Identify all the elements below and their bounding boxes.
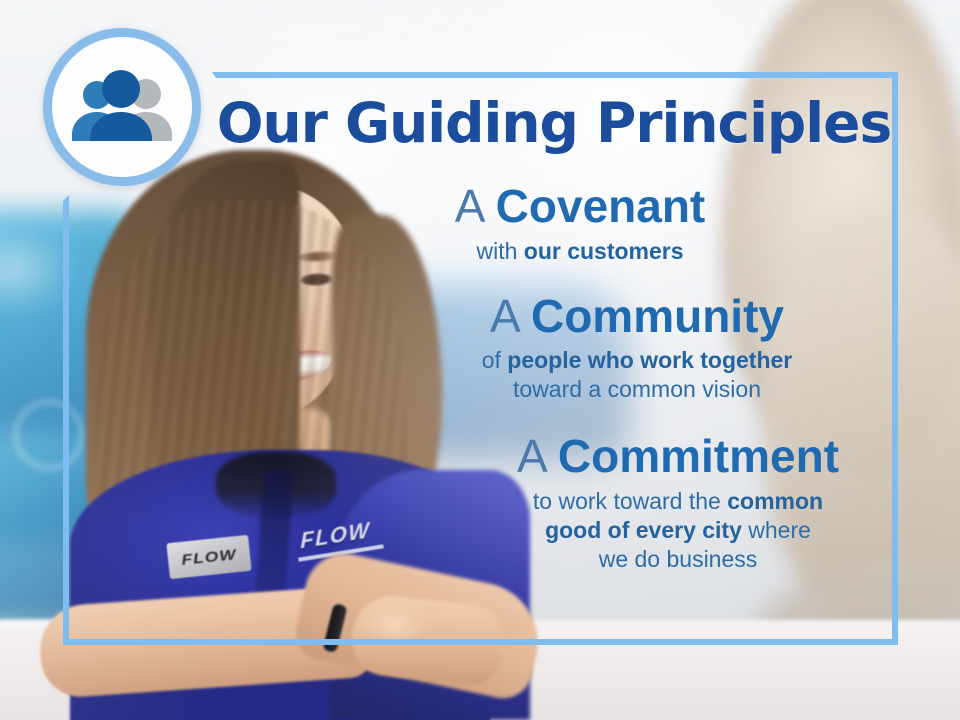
principle-commitment-word: Commitment xyxy=(558,430,839,482)
principle-covenant-word: Covenant xyxy=(496,180,706,232)
principle-commitment-article: A xyxy=(517,430,545,482)
principle-commitment: A Commitment to work toward the commongo… xyxy=(468,432,888,574)
principle-commitment-subtext: to work toward the commongood of every c… xyxy=(468,487,888,574)
principle-community-article: A xyxy=(490,290,518,342)
principles-list: A Covenant with our customers A Communit… xyxy=(200,182,900,580)
people-badge xyxy=(43,28,201,186)
principle-commitment-title: A Commitment xyxy=(468,432,888,482)
principle-community-title: A Community xyxy=(422,292,852,342)
principle-covenant-article: A xyxy=(455,180,483,232)
principle-community-word: Community xyxy=(531,290,784,342)
principle-covenant: A Covenant with our customers xyxy=(370,182,790,266)
principle-covenant-subtext: with our customers xyxy=(370,237,790,266)
blurred-manufacturer-emblem xyxy=(14,400,84,470)
principle-covenant-title: A Covenant xyxy=(370,182,790,232)
principle-community-subtext: of people who work togethertoward a comm… xyxy=(422,346,852,404)
guiding-principles-banner: FLOW FLOW Our Gui xyxy=(0,0,960,720)
people-group-icon xyxy=(66,68,178,146)
page-title: Our Guiding Principles xyxy=(212,96,896,151)
principle-community: A Community of people who work togethert… xyxy=(422,292,852,405)
